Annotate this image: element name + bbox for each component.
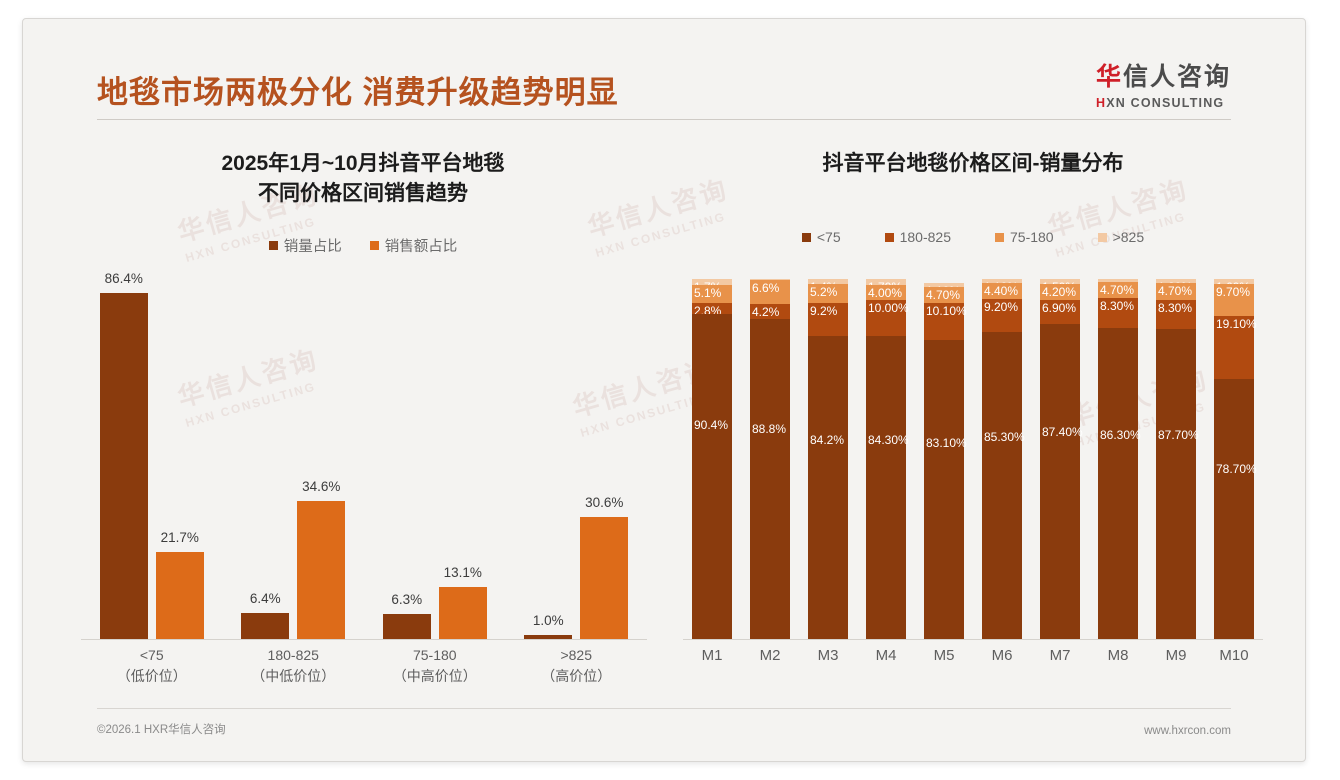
x-axis-label-range: >825 (511, 645, 641, 666)
segment-value-label: 9.70% (1216, 285, 1250, 299)
stack-segment[interactable]: 6.6% (750, 280, 790, 304)
stack-segment[interactable]: 85.30% (982, 332, 1022, 639)
right-chart-x-axis (683, 639, 1263, 640)
bar-fill (241, 613, 289, 639)
legend-swatch (885, 233, 894, 242)
x-axis-label: M5 (914, 647, 974, 664)
stack-segment[interactable]: 4.2% (750, 304, 790, 319)
segment-value-label: 9.2% (810, 304, 837, 318)
footer-copyright: ©2026.1 HXR华信人咨询 (97, 721, 226, 737)
segment-value-label: 87.70% (1158, 428, 1199, 442)
segment-value-label: 6.90% (1042, 301, 1076, 315)
legend-item-sales-value[interactable]: 销售额占比 (370, 235, 458, 256)
stack-segment[interactable]: 10.00% (866, 300, 906, 336)
left-chart-title-line2: 不同价格区间销售趋势 (63, 179, 663, 209)
right-chart-plot-area: 1.7%5.1%2.8%90.4%0.4%6.6%4.2%88.8%1.4%5.… (683, 279, 1263, 639)
footer-website[interactable]: www.hxrcon.com (1144, 725, 1231, 737)
bar-value-label: 30.6% (585, 495, 623, 510)
logo-en-initial: H (1096, 96, 1106, 110)
stack-segment[interactable]: 84.30% (866, 336, 906, 639)
bar[interactable]: 6.3% (383, 614, 431, 639)
stack-segment[interactable]: 4.20% (1040, 284, 1080, 299)
stacked-bar[interactable]: 0.70%4.70%8.30%86.30% (1098, 279, 1138, 639)
left-chart-title: 2025年1月~10月抖音平台地毯 不同价格区间销售趋势 (63, 149, 663, 209)
bar-fill (297, 501, 345, 639)
bar-value-label: 6.4% (250, 591, 281, 606)
stack-segment[interactable]: 4.70% (924, 287, 964, 304)
legend-item-180-825[interactable]: 180-825 (885, 229, 951, 245)
bar-fill (580, 517, 628, 639)
stack-segment[interactable]: 8.30% (1156, 300, 1196, 329)
logo-chars-rest: 信人咨询 (1123, 63, 1231, 91)
segment-value-label: 87.40% (1042, 425, 1083, 439)
bar-value-label: 13.1% (444, 565, 482, 580)
segment-value-label: 19.10% (1216, 317, 1257, 331)
stack-segment[interactable]: 87.40% (1040, 324, 1080, 639)
segment-value-label: 86.30% (1100, 428, 1141, 442)
bar-value-label: 86.4% (105, 271, 143, 286)
stack-segment[interactable]: 78.70% (1214, 379, 1254, 639)
stacked-bar[interactable]: 1.70%4.00%10.00%84.30% (866, 279, 906, 639)
legend-swatch (1098, 233, 1107, 242)
x-axis-label: M3 (798, 647, 858, 664)
stack-segment[interactable]: 4.40% (982, 283, 1022, 299)
stack-segment[interactable]: 5.2% (808, 284, 848, 303)
left-chart-panel: 2025年1月~10月抖音平台地毯 不同价格区间销售趋势 销量占比 销售额占比 … (63, 129, 663, 704)
right-chart-title: 抖音平台地毯价格区间-销量分布 (673, 149, 1273, 179)
stack-segment[interactable]: 4.70% (1156, 283, 1196, 300)
segment-value-label: 83.10% (926, 436, 967, 450)
legend-swatch (995, 233, 1004, 242)
x-axis-label-range: 75-180 (370, 645, 500, 666)
stacked-bar[interactable]: 1.4%5.2%9.2%84.2% (808, 279, 848, 639)
stack-segment[interactable]: 10.10% (924, 303, 964, 339)
x-axis-label: 75-180（中高价位） (370, 645, 500, 687)
left-chart-legend: 销量占比 销售额占比 (63, 235, 663, 256)
bar[interactable]: 30.6% (580, 517, 628, 639)
logo-chinese: 华信人咨询 (1096, 65, 1231, 90)
stack-segment[interactable]: 4.00% (866, 285, 906, 299)
bar-group: 6.4%34.6% (223, 279, 365, 639)
bar-group: 86.4%21.7% (81, 279, 223, 639)
segment-value-label: 4.2% (752, 305, 779, 319)
stacked-bar[interactable]: 1.10%4.40%9.20%85.30% (982, 279, 1022, 639)
stacked-bar[interactable]: 1.60%9.70%19.10%78.70% (1214, 279, 1254, 639)
legend-label: <75 (817, 229, 841, 245)
x-axis-label-range: <75 (87, 645, 217, 666)
segment-value-label: 10.00% (868, 301, 909, 315)
stack-segment[interactable]: 9.2% (808, 303, 848, 336)
bar-fill (439, 587, 487, 639)
logo-english: HXN CONSULTING (1096, 96, 1231, 110)
logo-en-rest: XN CONSULTING (1106, 96, 1224, 110)
bar-value-label: 21.7% (161, 530, 199, 545)
bar-fill (100, 293, 148, 639)
stack-segment[interactable]: 86.30% (1098, 328, 1138, 639)
x-axis-label: M9 (1146, 647, 1206, 664)
segment-value-label: 8.30% (1158, 301, 1192, 315)
legend-label: 销量占比 (284, 235, 342, 256)
page-title: 地毯市场两极分化 消费升级趋势明显 (97, 67, 619, 112)
x-axis-label-tier: （中低价位） (228, 666, 358, 687)
stack-segment[interactable]: 87.70% (1156, 329, 1196, 639)
left-chart-plot-area: 86.4%21.7%6.4%34.6%6.3%13.1%1.0%30.6% (81, 279, 647, 639)
legend-label: 销售额占比 (385, 235, 458, 256)
segment-value-label: 4.20% (1042, 285, 1076, 299)
stack-segment[interactable]: 4.70% (1098, 282, 1138, 299)
segment-value-label: 85.30% (984, 430, 1025, 444)
x-axis-label-range: 180-825 (228, 645, 358, 666)
legend-label: 75-180 (1010, 229, 1054, 245)
stack-segment[interactable]: 19.10% (1214, 316, 1254, 379)
x-axis-label: M7 (1030, 647, 1090, 664)
bar[interactable]: 6.4% (241, 613, 289, 639)
legend-swatch (370, 241, 379, 250)
x-axis-label: M2 (740, 647, 800, 664)
bar-value-label: 34.6% (302, 479, 340, 494)
bar[interactable]: 86.4% (100, 293, 148, 639)
stack-segment[interactable]: 8.30% (1098, 298, 1138, 328)
segment-value-label: 5.1% (694, 286, 721, 300)
stack-segment[interactable]: 2.8% (692, 303, 732, 313)
legend-swatch (269, 241, 278, 250)
stack-segment[interactable]: 9.70% (1214, 284, 1254, 316)
x-axis-label-tier: （低价位） (87, 666, 217, 687)
x-axis-label: M4 (856, 647, 916, 664)
stacked-bar[interactable]: 0.4%6.6%4.2%88.8% (750, 279, 790, 639)
stack-segment[interactable]: 84.2% (808, 336, 848, 639)
stack-segment[interactable]: 6.90% (1040, 300, 1080, 325)
x-axis-label: 180-825（中低价位） (228, 645, 358, 687)
segment-value-label: 4.00% (868, 286, 902, 300)
bar[interactable]: 21.7% (156, 552, 204, 639)
segment-value-label: 84.2% (810, 433, 844, 447)
header-divider (97, 119, 1231, 120)
legend-item-lt75[interactable]: <75 (802, 229, 841, 245)
legend-swatch (802, 233, 811, 242)
segment-value-label: 10.10% (926, 304, 967, 318)
bar-fill (156, 552, 204, 639)
slide: 地毯市场两极分化 消费升级趋势明显 华信人咨询 HXN CONSULTING 华… (22, 18, 1306, 762)
bar-fill (383, 614, 431, 639)
segment-value-label: 6.6% (752, 281, 779, 295)
bar-value-label: 6.3% (391, 592, 422, 607)
footer-divider (97, 708, 1231, 709)
stack-segment[interactable]: 9.20% (982, 299, 1022, 332)
stacked-bar[interactable]: 1.10%4.70%10.10%83.10% (924, 279, 964, 639)
segment-value-label: 4.40% (984, 284, 1018, 298)
bar-group: 6.3%13.1% (364, 279, 506, 639)
legend-label: >825 (1113, 229, 1145, 245)
stacked-bar[interactable]: 1.50%4.20%6.90%87.40% (1040, 279, 1080, 639)
x-axis-label: M10 (1204, 647, 1264, 664)
x-axis-label: <75（低价位） (87, 645, 217, 687)
bar[interactable]: 34.6% (297, 501, 345, 639)
stack-segment[interactable]: 83.10% (924, 340, 964, 639)
segment-value-label: 88.8% (752, 422, 786, 436)
logo-char-hua: 华 (1096, 63, 1123, 91)
stack-segment[interactable]: 5.1% (692, 285, 732, 303)
segment-value-label: 9.20% (984, 300, 1018, 314)
stack-segment[interactable]: 88.8% (750, 319, 790, 639)
segment-value-label: 5.2% (810, 285, 837, 299)
bar[interactable]: 13.1% (439, 587, 487, 639)
legend-label: 180-825 (900, 229, 951, 245)
bar-group: 1.0%30.6% (506, 279, 648, 639)
legend-item-sales-volume[interactable]: 销量占比 (269, 235, 342, 256)
x-axis-label-tier: （高价位） (511, 666, 641, 687)
left-chart-x-axis (81, 639, 647, 640)
segment-value-label: 78.70% (1216, 462, 1257, 476)
segment-value-label: 84.30% (868, 433, 909, 447)
legend-item-gt825[interactable]: >825 (1098, 229, 1145, 245)
segment-value-label: 4.70% (1158, 284, 1192, 298)
segment-value-label: 90.4% (694, 418, 728, 432)
slide-header: 地毯市场两极分化 消费升级趋势明显 华信人咨询 HXN CONSULTING (23, 19, 1305, 119)
x-axis-label: >825（高价位） (511, 645, 641, 687)
stacked-bar[interactable]: 1.20%4.70%8.30%87.70% (1156, 279, 1196, 639)
stacked-bar[interactable]: 1.7%5.1%2.8%90.4% (692, 279, 732, 639)
segment-value-label: 8.30% (1100, 299, 1134, 313)
x-axis-label: M8 (1088, 647, 1148, 664)
x-axis-label: M1 (682, 647, 742, 664)
x-axis-label: M6 (972, 647, 1032, 664)
left-chart-title-line1: 2025年1月~10月抖音平台地毯 (63, 149, 663, 179)
bar-value-label: 1.0% (533, 613, 564, 628)
stack-segment[interactable]: 90.4% (692, 314, 732, 639)
right-chart-panel: 抖音平台地毯价格区间-销量分布 <75 180-825 75-180 >825 … (673, 129, 1273, 704)
segment-value-label: 4.70% (926, 288, 960, 302)
right-chart-legend: <75 180-825 75-180 >825 (673, 229, 1273, 245)
legend-item-75-180[interactable]: 75-180 (995, 229, 1054, 245)
segment-value-label: 4.70% (1100, 283, 1134, 297)
company-logo: 华信人咨询 HXN CONSULTING (1096, 65, 1231, 110)
x-axis-label-tier: （中高价位） (370, 666, 500, 687)
